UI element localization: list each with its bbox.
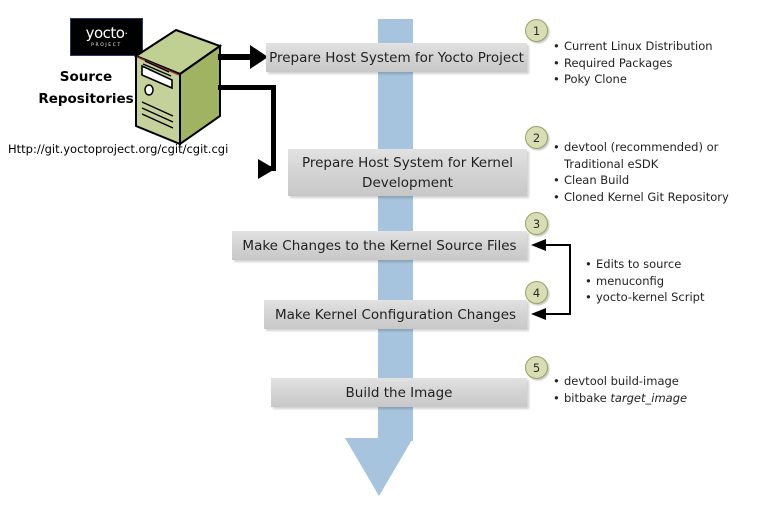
process-box-make-kernel-config-changes[interactable]: Make Kernel Configuration Changes: [264, 300, 527, 329]
connector-step3-horizontal: [545, 244, 570, 246]
diagram-canvas: yocto· PROJECT Source Repositories Http:…: [0, 0, 769, 517]
logo-dot: ·: [124, 27, 127, 40]
list-item: Cloned Kernel Git Repository: [553, 189, 763, 206]
step-number-5: 5: [525, 356, 548, 379]
connector-steps34-vertical: [569, 244, 571, 315]
list-item: Clean Build: [553, 172, 763, 189]
logo-wordmark: yocto·: [86, 26, 128, 41]
server-tower-icon: [132, 28, 224, 146]
connector-step4-horizontal: [545, 313, 570, 315]
steps34-shared-bullet-list: Edits to source menuconfig yocto-kernel …: [585, 256, 765, 306]
step5-bullet-list: devtool build-image bitbake target_image: [553, 373, 763, 406]
list-item: yocto-kernel Script: [585, 289, 765, 306]
step1-bullet-list: Current Linux Distribution Required Pack…: [553, 38, 763, 88]
step2-bullet-list: devtool (recommended) or Traditional eSD…: [553, 139, 763, 205]
connector-server-to-step2-vertical: [271, 85, 276, 170]
flow-arrow-head: [345, 438, 413, 496]
list-item-text: bitbake: [564, 391, 610, 405]
connector-step4-arrowhead: [531, 308, 546, 320]
step-number-4: 4: [525, 281, 548, 304]
connector-step3-arrowhead: [531, 239, 546, 251]
list-item: devtool build-image: [553, 373, 763, 390]
list-item: bitbake target_image: [553, 390, 763, 407]
process-box-build-the-image[interactable]: Build the Image: [271, 378, 527, 407]
list-item: devtool (recommended) or Traditional eSD…: [553, 139, 763, 172]
source-label-line2: Repositories: [26, 88, 146, 110]
connector-server-to-step2-horizontal-top: [218, 85, 276, 90]
logo-subtitle: PROJECT: [91, 42, 122, 49]
process-box-prepare-host-yocto[interactable]: Prepare Host System for Yocto Project: [266, 43, 527, 72]
list-item: menuconfig: [585, 273, 765, 290]
list-item: Poky Clone: [553, 71, 763, 88]
step-number-2: 2: [525, 126, 548, 149]
list-item: Required Packages: [553, 55, 763, 72]
process-box-make-kernel-source-changes[interactable]: Make Changes to the Kernel Source Files: [232, 231, 527, 260]
list-item-emphasis: target_image: [610, 391, 687, 405]
list-item: Current Linux Distribution: [553, 38, 763, 55]
list-item: Edits to source: [585, 256, 765, 273]
list-item-text: devtool build-image: [564, 374, 679, 388]
connector-server-to-step2-arrowhead: [258, 159, 275, 179]
process-box-prepare-host-kernel[interactable]: Prepare Host System for Kernel Developme…: [288, 149, 527, 196]
step-number-3: 3: [525, 212, 548, 235]
step-number-1: 1: [525, 19, 548, 42]
source-repositories-label: Source Repositories: [26, 66, 146, 110]
source-label-line1: Source: [26, 66, 146, 88]
